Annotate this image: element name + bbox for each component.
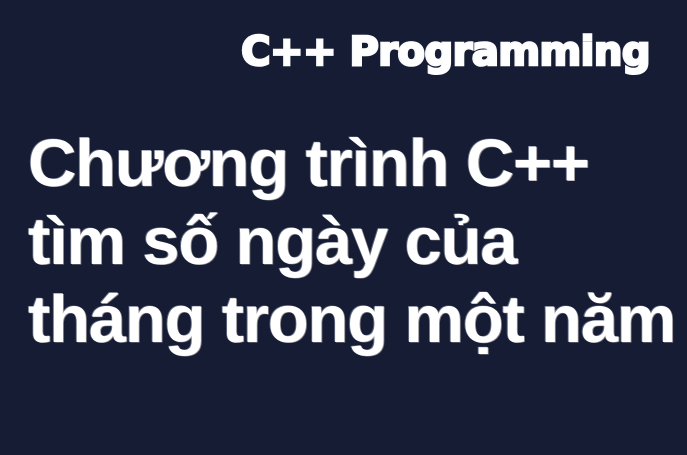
brand-title: C++ Programming (241, 32, 650, 72)
poster-canvas: C++ Programming Chương trình C++ tìm số … (0, 0, 687, 455)
brand-header: C++ Programming (0, 0, 650, 104)
headline-line-3: tháng trong một năm (28, 281, 667, 359)
headline-block: Chương trình C++ tìm số ngày của tháng t… (28, 125, 667, 359)
headline-line-1: Chương trình C++ (28, 125, 667, 203)
headline-line-2: tìm số ngày của (28, 203, 667, 281)
